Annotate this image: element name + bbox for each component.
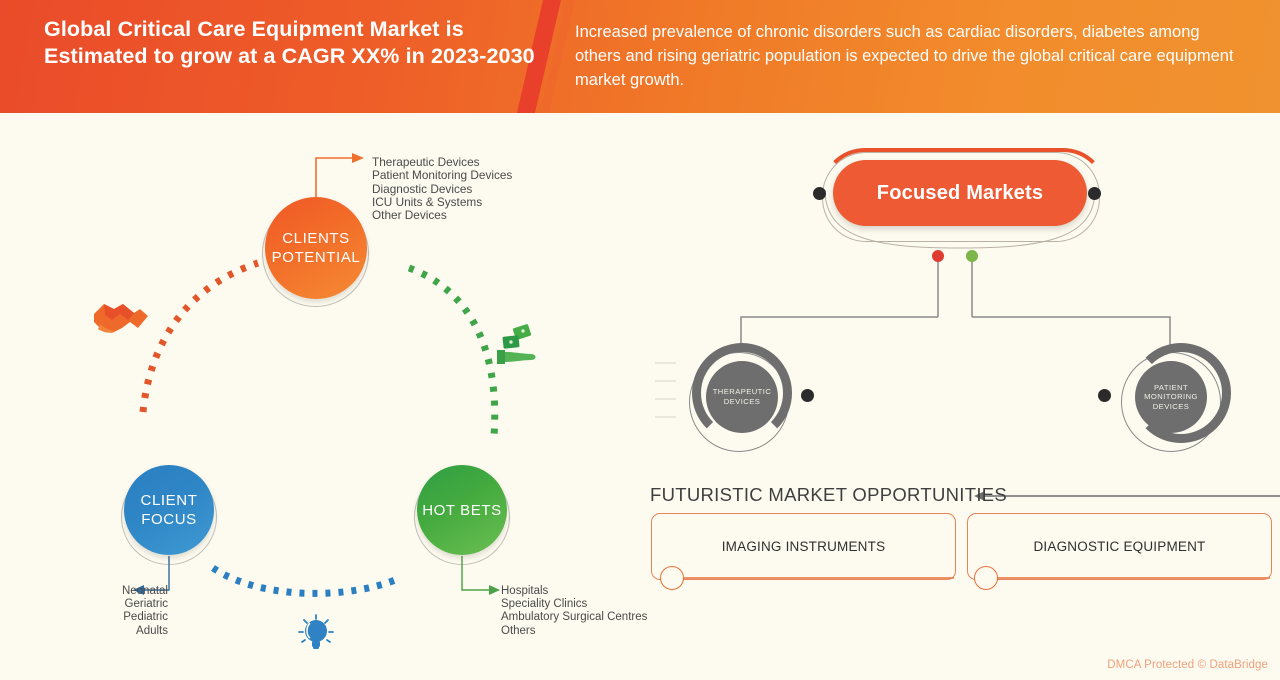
futuristic-opportunities-title: FUTURISTIC MARKET OPPORTUNITIES [650, 484, 1007, 506]
client-focus-list: Neonatal Geriatric Pediatric Adults [62, 585, 168, 638]
opportunity-label: IMAGING INSTRUMENTS [722, 539, 886, 554]
client-focus-circle[interactable]: CLIENT FOCUS [124, 465, 214, 555]
hot-bets-label: HOT BETS [422, 501, 502, 520]
green-dotted-arc [409, 268, 495, 436]
client-focus-label: CLIENT FOCUS [124, 491, 214, 529]
handshake-icon [94, 304, 148, 333]
therapeutic-devices-label: THERAPEUTIC DEVICES [713, 387, 772, 406]
clients-potential-circle[interactable]: CLIENTS POTENTIAL [265, 197, 367, 299]
therapeutic-connector [741, 317, 938, 348]
patient-monitoring-node-dot [1098, 389, 1111, 402]
header-banner: Global Critical Care Equipment Market is… [0, 0, 1280, 113]
hot-bets-arrow-head [489, 585, 500, 595]
orange-dotted-arc [143, 263, 258, 412]
patient-monitoring-connector [972, 317, 1170, 348]
opportunity-marker-circle-2 [974, 566, 998, 590]
patient-monitoring-devices-label: PATIENT MONITORING DEVICES [1144, 383, 1198, 412]
lightbulb-icon [299, 615, 333, 649]
focused-markets-left-dot [813, 187, 826, 200]
opportunity-box-diagnostic-equipment[interactable]: DIAGNOSTIC EQUIPMENT [967, 513, 1272, 580]
clients-potential-list: Therapeutic Devices Patient Monitoring D… [372, 156, 512, 222]
therapeutic-devices-node[interactable]: THERAPEUTIC DEVICES [706, 361, 778, 433]
dmca-credit: DMCA Protected © DataBridge [1107, 659, 1268, 671]
opportunity-marker-circle-1 [660, 566, 684, 590]
therapeutic-node-dot [801, 389, 814, 402]
opportunity-label: DIAGNOSTIC EQUIPMENT [1033, 539, 1205, 554]
page-title: Global Critical Care Equipment Market is… [44, 16, 544, 70]
decorative-ghost-lines [655, 363, 676, 417]
green-dot [966, 250, 978, 262]
money-hand-icon [497, 324, 536, 364]
header-subtitle: Increased prevalence of chronic disorder… [575, 20, 1240, 92]
clients-arrow-head [352, 153, 364, 163]
focused-markets-right-dot [1088, 187, 1101, 200]
patient-monitoring-devices-node[interactable]: PATIENT MONITORING DEVICES [1135, 361, 1207, 433]
red-dot [932, 250, 944, 262]
opportunity-box-imaging-instruments[interactable]: IMAGING INSTRUMENTS [651, 513, 956, 580]
focused-markets-title: Focused Markets [877, 182, 1043, 205]
focused-markets-pill[interactable]: Focused Markets [833, 160, 1087, 226]
infographic-canvas: Global Critical Care Equipment Market is… [0, 0, 1280, 680]
clients-connector-line [316, 158, 352, 197]
clients-potential-label: CLIENTS POTENTIAL [265, 229, 367, 267]
hot-bets-list: Hospitals Speciality Clinics Ambulatory … [501, 585, 647, 638]
blue-dotted-arc [213, 568, 400, 593]
hot-bets-circle[interactable]: HOT BETS [417, 465, 507, 555]
